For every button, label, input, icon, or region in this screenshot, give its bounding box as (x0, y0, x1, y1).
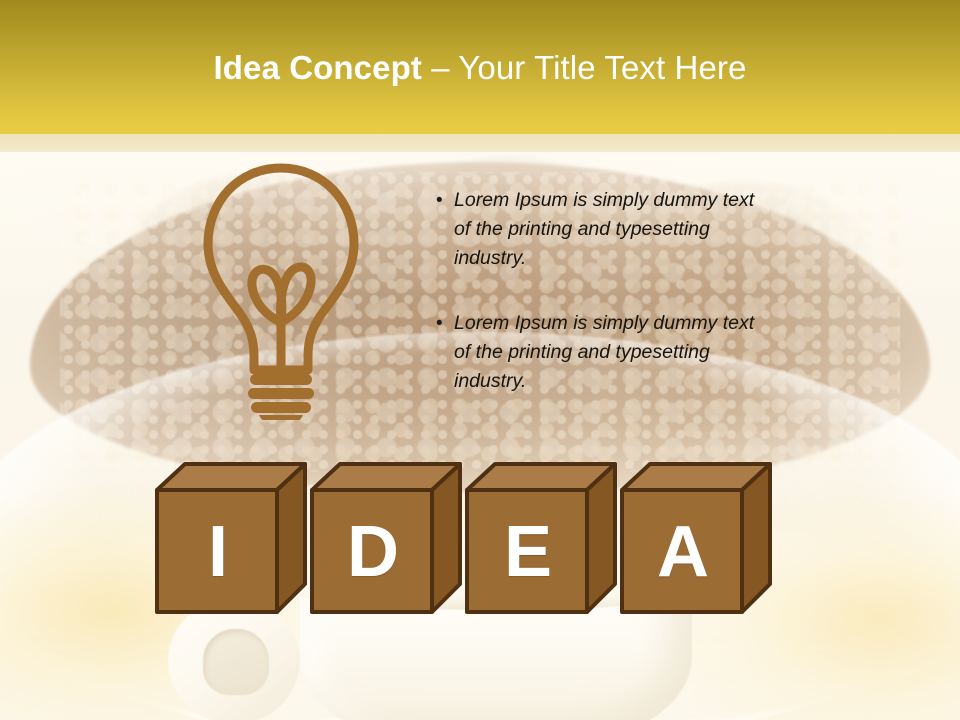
page-title: Idea Concept – Your Title Text Here (0, 48, 960, 88)
lightbulb-icon (196, 160, 366, 420)
idea-cube: A (620, 462, 772, 614)
bullet-text: Lorem Ipsum is simply dummy text of the … (454, 186, 762, 273)
idea-cube: I (155, 462, 307, 614)
idea-cube: E (465, 462, 617, 614)
idea-cube-group: I D E A (0, 462, 960, 614)
page-title-strong: Idea Concept (214, 49, 422, 86)
header-bar: Idea Concept – Your Title Text Here (0, 0, 960, 134)
bullet-text: Lorem Ipsum is simply dummy text of the … (454, 309, 762, 396)
list-item: • Lorem Ipsum is simply dummy text of th… (432, 309, 762, 396)
list-item: • Lorem Ipsum is simply dummy text of th… (432, 186, 762, 273)
slide: Idea Concept – Your Title Text Here (0, 0, 960, 720)
bullet-marker: • (432, 309, 454, 338)
bullet-marker: • (432, 186, 454, 215)
idea-cube: D (310, 462, 462, 614)
bullet-list: • Lorem Ipsum is simply dummy text of th… (432, 186, 762, 432)
header-accent-band (0, 134, 960, 152)
page-title-rest: – Your Title Text Here (422, 49, 747, 86)
